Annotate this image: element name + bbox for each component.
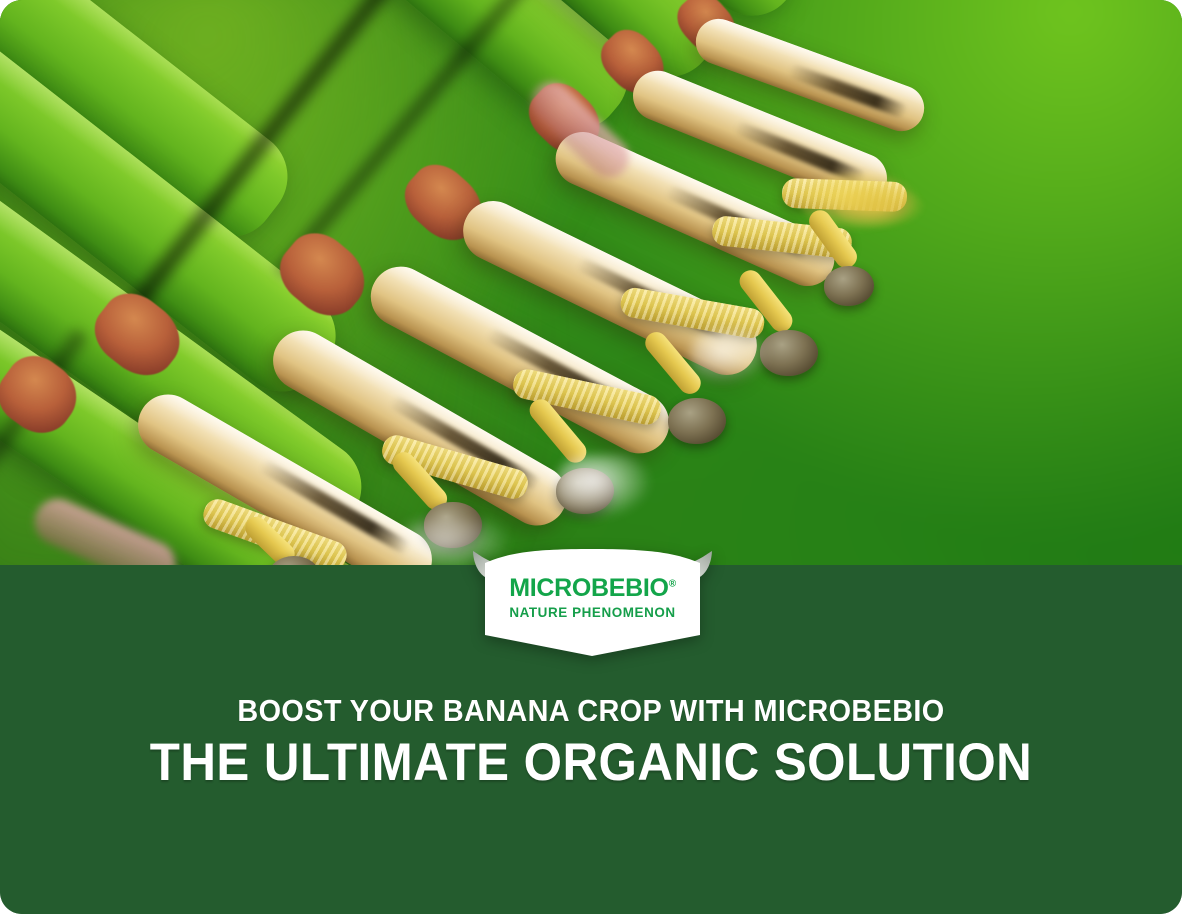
headline-block: BOOST YOUR BANANA CROP WITH MICROBEBIO T… xyxy=(0,694,1182,792)
logo-ribbon-shape xyxy=(471,549,714,656)
withered-flower-bud xyxy=(824,266,874,306)
headline-line-1: BOOST YOUR BANANA CROP WITH MICROBEBIO xyxy=(41,694,1140,728)
headline-line-2: THE ULTIMATE ORGANIC SOLUTION xyxy=(41,734,1140,792)
dried-curl xyxy=(836,186,926,230)
husk-highlight xyxy=(690,330,770,384)
withered-flower-bud xyxy=(668,398,726,444)
banana-photo xyxy=(0,0,1182,566)
husk-highlight xyxy=(555,455,651,519)
banana-cluster xyxy=(0,0,1182,566)
promo-poster: MICROBEBIO® NATURE PHENOMENON BOOST YOUR… xyxy=(0,0,1182,914)
